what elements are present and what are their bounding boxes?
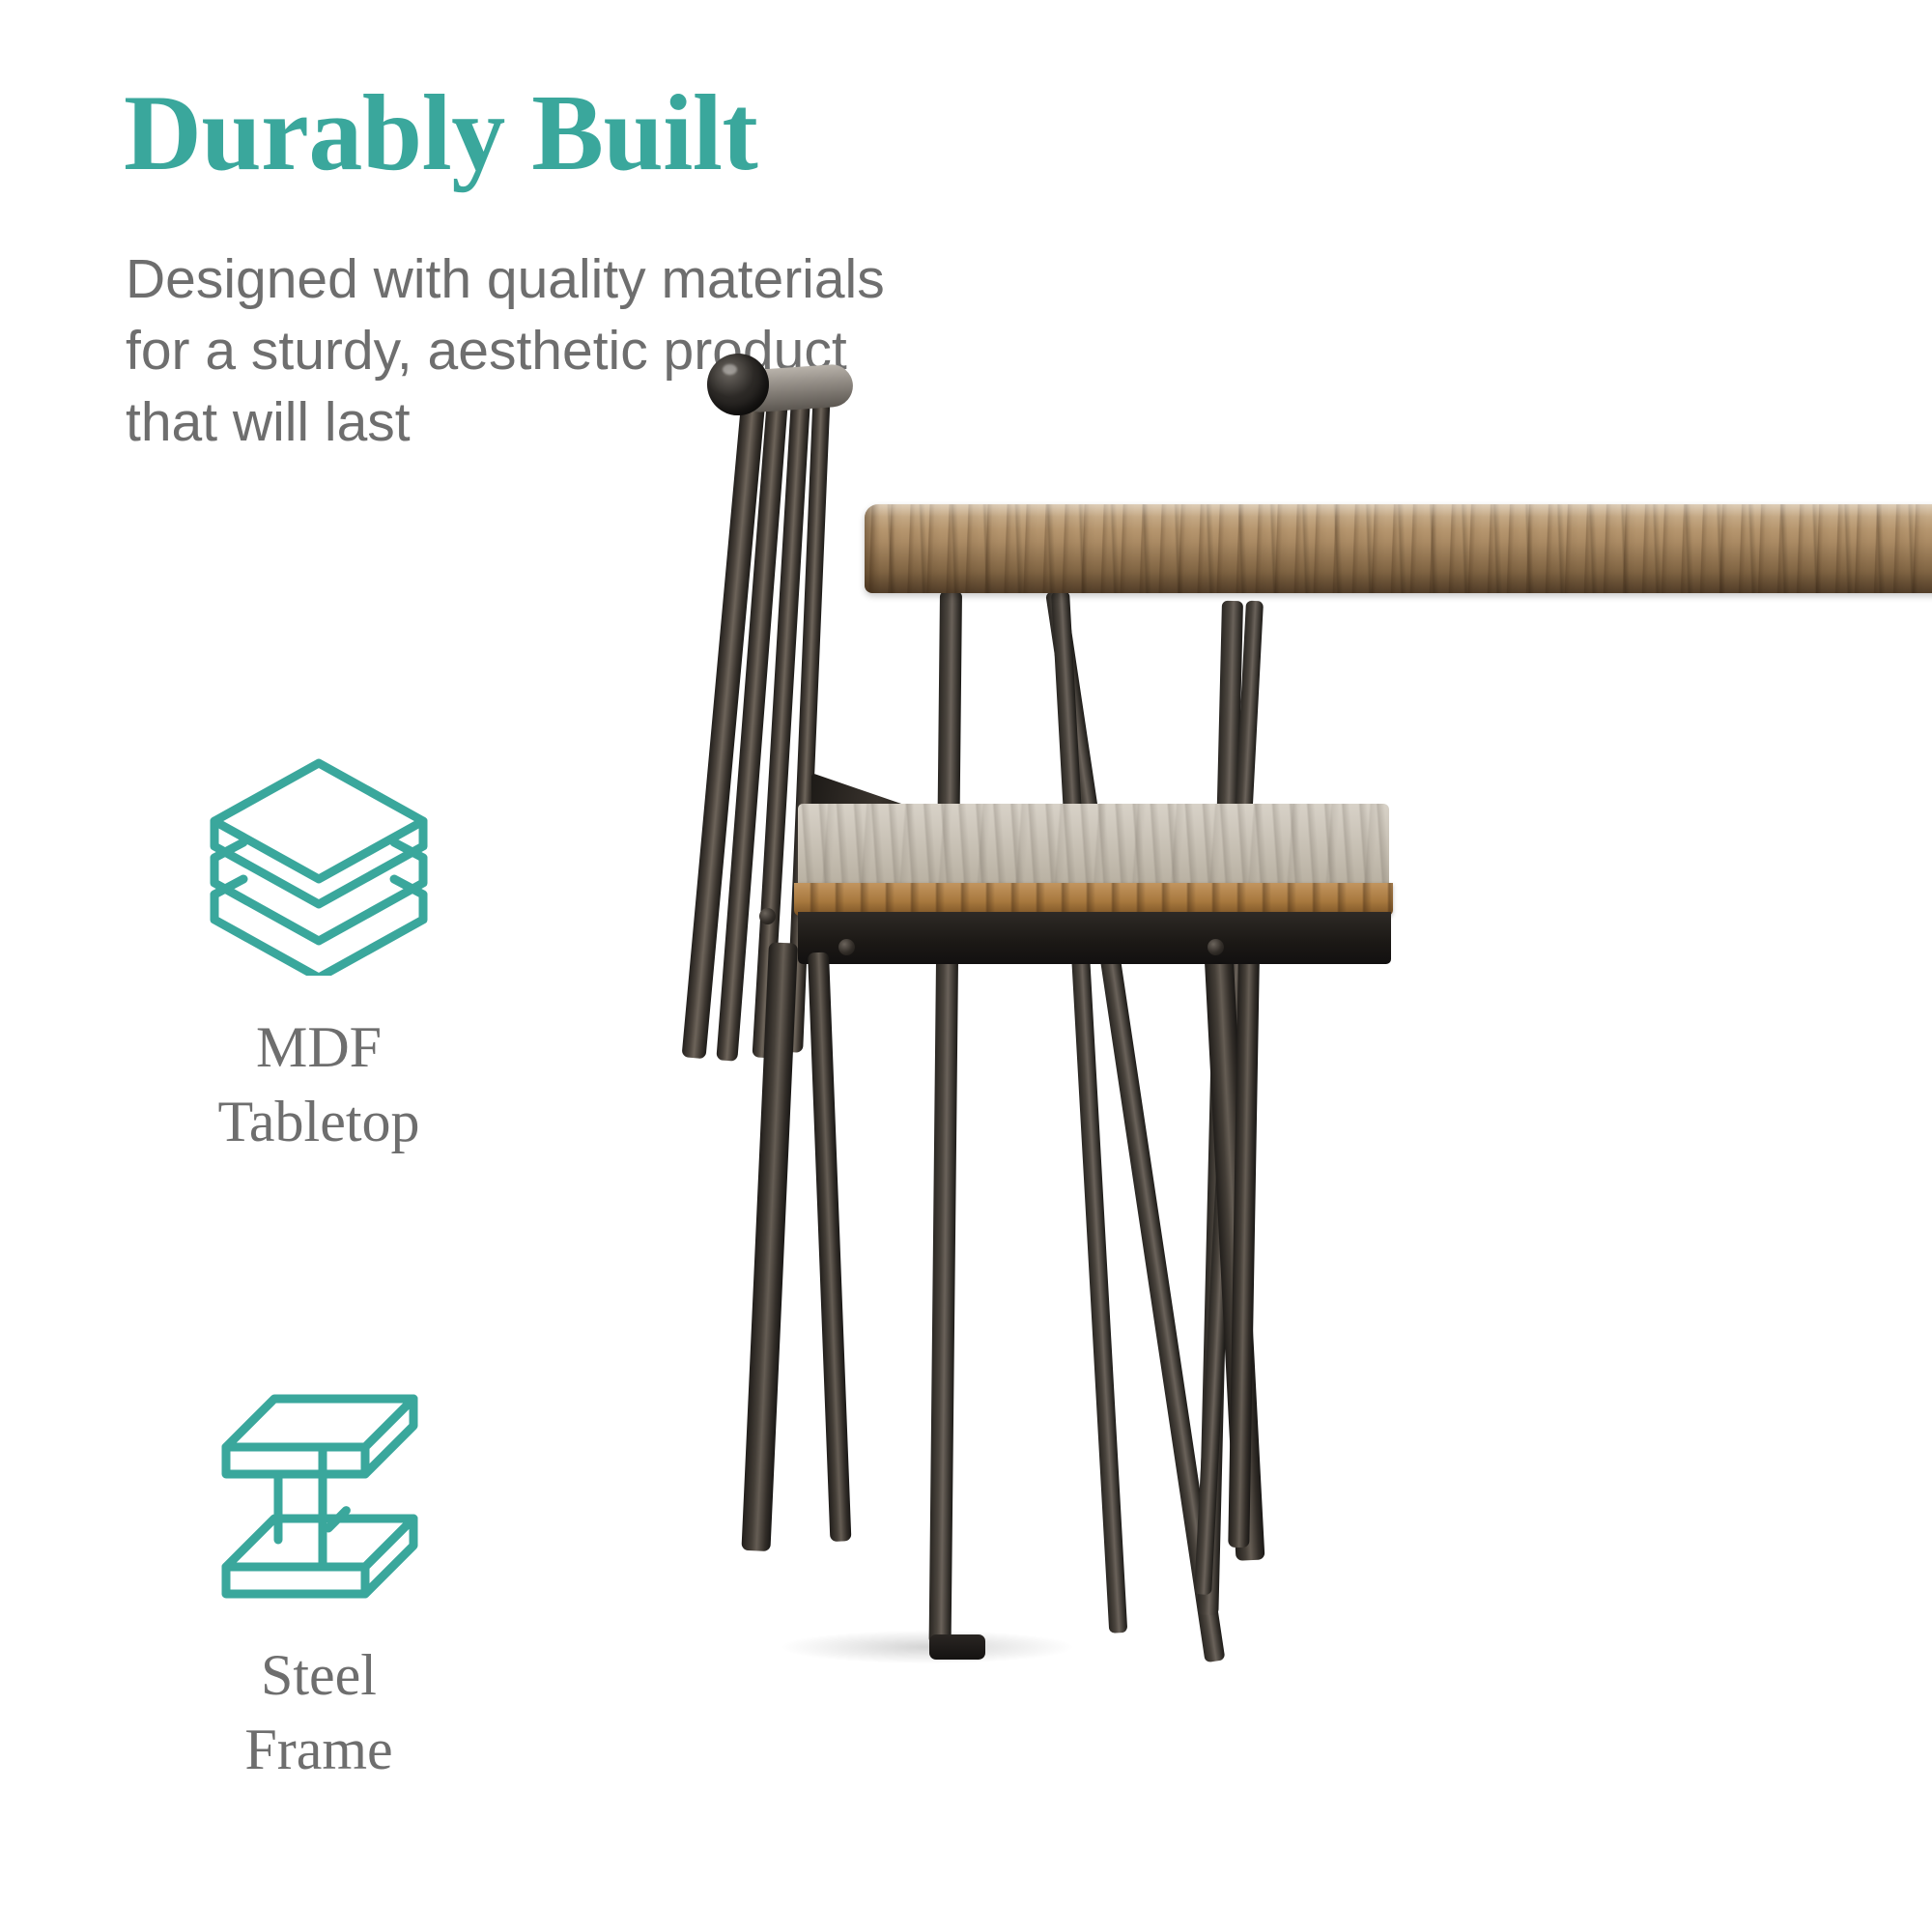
chair-foot-cap <box>929 1634 985 1660</box>
feature-label-mdf-line-2: Tabletop <box>111 1085 526 1159</box>
chair-seat-apron <box>798 912 1391 964</box>
feature-label-mdf: MDF Tabletop <box>111 1010 526 1159</box>
table-leg <box>1051 590 1127 1633</box>
layers-stack-icon-wrap <box>111 744 526 985</box>
feature-label-steel: Steel Frame <box>111 1638 526 1787</box>
product-photo <box>667 290 1932 1932</box>
floor-shadow <box>782 1631 1072 1663</box>
product-feature-panel: Durably Built Designed with quality mate… <box>0 0 1932 1932</box>
feature-steel-frame: Steel Frame <box>111 1372 526 1787</box>
feature-label-mdf-line-1: MDF <box>111 1010 526 1085</box>
chair-leg <box>808 952 851 1542</box>
i-beam-icon-wrap <box>111 1372 526 1613</box>
i-beam-icon <box>214 1383 423 1602</box>
chair-finial-knob <box>707 354 769 415</box>
layers-stack-icon <box>205 753 433 976</box>
page-title: Durably Built <box>124 75 757 192</box>
chair-leg <box>741 942 798 1551</box>
feature-mdf-tabletop: MDF Tabletop <box>111 744 526 1159</box>
table-leg <box>929 591 962 1644</box>
feature-label-steel-line-2: Frame <box>111 1713 526 1787</box>
feature-label-steel-line-1: Steel <box>111 1638 526 1713</box>
seat-screw <box>1207 939 1224 955</box>
seat-screw <box>759 908 776 924</box>
chair-seat-surface <box>798 804 1389 891</box>
chair-seat-edge <box>794 883 1393 916</box>
tabletop <box>865 504 1932 593</box>
seat-screw <box>838 939 855 955</box>
